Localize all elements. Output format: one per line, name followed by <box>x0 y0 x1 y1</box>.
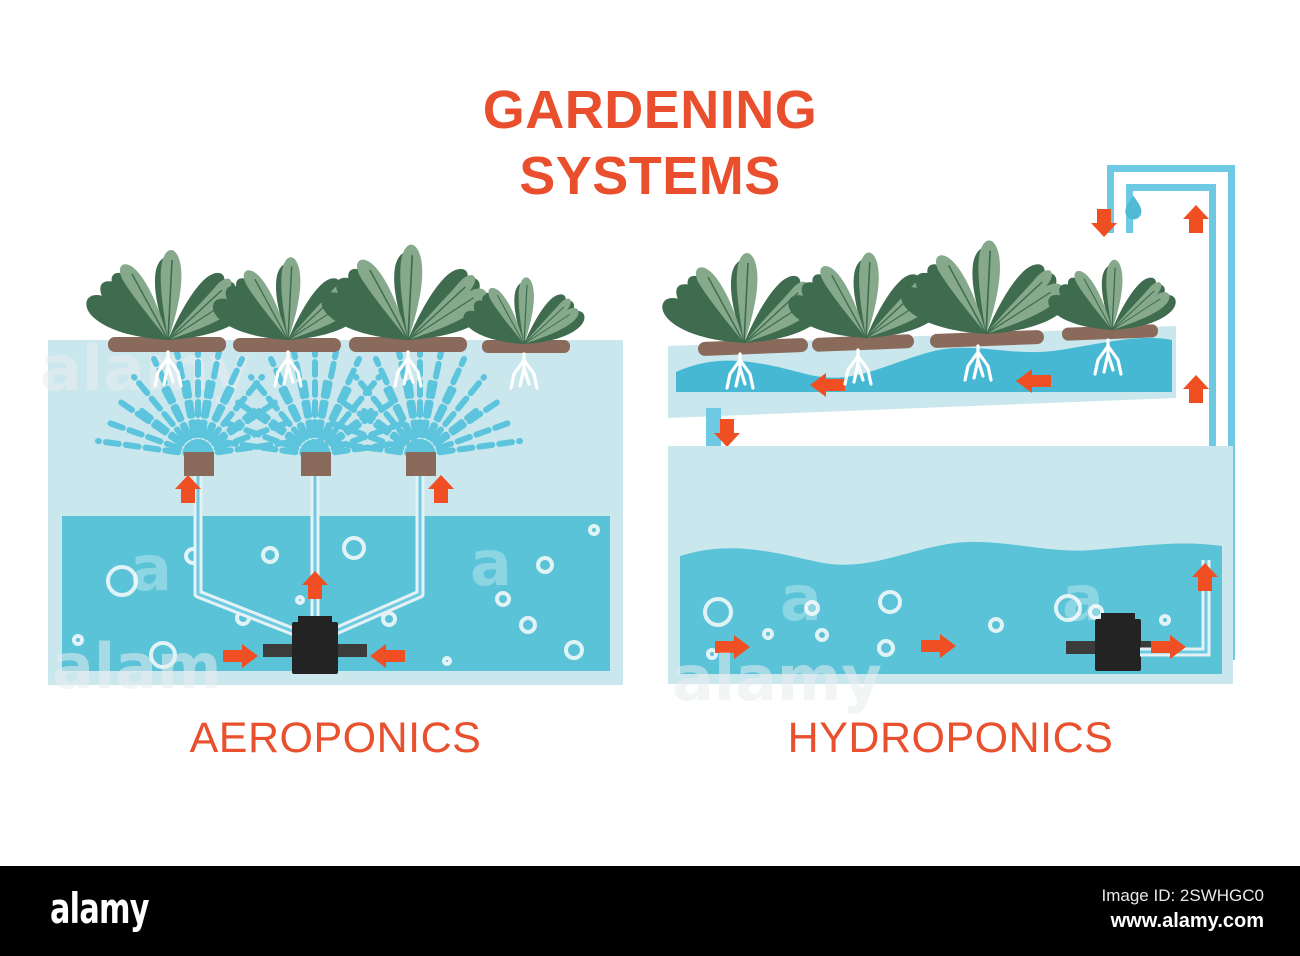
aeroponics-caption: AEROPONICS <box>48 714 623 763</box>
image-id-label: Image ID: 2SWHGC0 <box>1102 886 1265 906</box>
flow-arrow-riser-top-up <box>1183 205 1209 233</box>
watermark-text: alamy <box>672 642 882 715</box>
plant-1 <box>86 250 249 340</box>
watermark-text: a <box>780 562 822 635</box>
plant-3 <box>901 240 1071 334</box>
infographic-canvas: alamy <box>0 0 1300 956</box>
watermark-text: a <box>130 532 172 605</box>
plant-4 <box>464 277 585 344</box>
aeroponics-diagram: alamy <box>40 245 623 703</box>
alamy-url-label: www.alamy.com <box>1111 910 1264 933</box>
hydroponics-diagram: a a alamy <box>662 178 1233 715</box>
plant-4 <box>1048 260 1175 330</box>
alamy-footer-bar <box>0 866 1300 956</box>
spray-nozzle-1 <box>184 452 214 476</box>
spray-nozzle-3 <box>406 452 436 476</box>
watermark-text: a <box>470 527 512 600</box>
flow-arrow-riser-mid-up <box>1183 375 1209 403</box>
watermark-text: alam <box>52 630 222 703</box>
spray-nozzle-2 <box>301 452 331 476</box>
alamy-logo: alamy <box>50 884 149 933</box>
hydroponics-caption: HYDROPONICS <box>668 714 1233 763</box>
